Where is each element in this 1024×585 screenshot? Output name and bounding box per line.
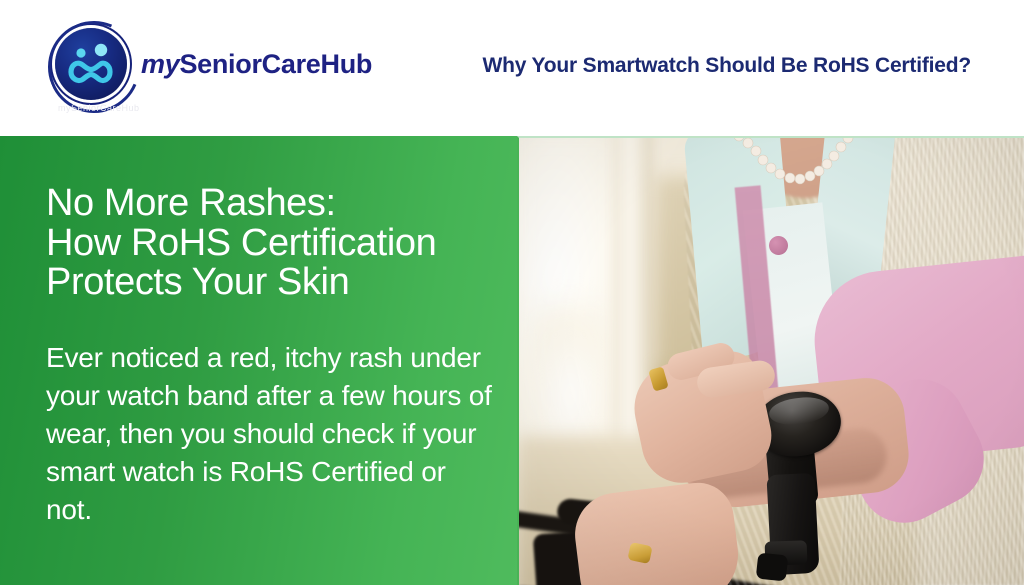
hero-photo xyxy=(517,136,1024,585)
photo-pearl-necklace xyxy=(729,136,879,210)
page-title: Why Your Smartwatch Should Be RoHS Certi… xyxy=(483,54,971,78)
brand-logo[interactable]: mySeniorCareHub xyxy=(55,28,372,100)
page-header: mySeniorCareHub mySeniorCareHub Why Your… xyxy=(0,0,1024,136)
hero-text-panel: No More Rashes: How RoHS Certification P… xyxy=(0,136,517,585)
hero-body-text: Ever noticed a red, itchy rash under you… xyxy=(46,339,496,529)
banner-root: mySeniorCareHub mySeniorCareHub Why Your… xyxy=(0,0,1024,585)
smartwatch-strap-end xyxy=(756,553,789,582)
brand-ghost-text: mySeniorCareHub xyxy=(58,103,188,113)
brand-name-rest: SeniorCareHub xyxy=(179,49,372,79)
mysenior-carehub-circle-logo-icon xyxy=(55,28,127,100)
infinity-people-icon xyxy=(55,28,127,100)
brand-wordmark: mySeniorCareHub xyxy=(141,49,372,80)
hero-headline: No More Rashes: How RoHS Certification P… xyxy=(46,184,516,303)
brand-name-prefix: my xyxy=(141,49,179,79)
